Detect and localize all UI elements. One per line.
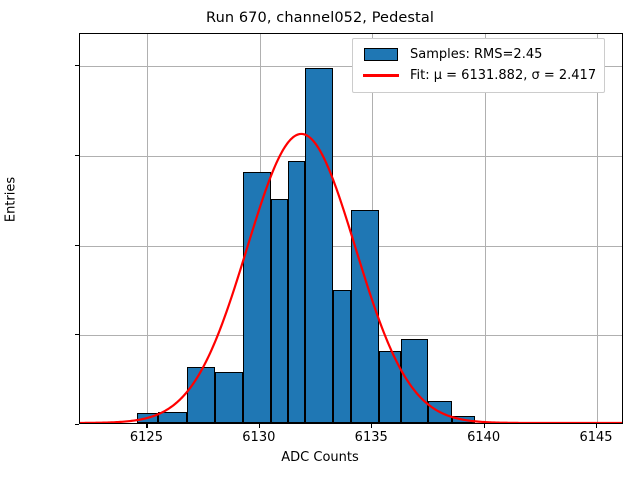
y-tick-mark [75, 65, 79, 66]
x-tick-mark [371, 424, 372, 428]
legend-label-fit: Fit: μ = 6131.882, σ = 2.417 [410, 68, 596, 83]
legend-line-icon [361, 68, 401, 84]
x-tick-mark [259, 424, 260, 428]
x-tick-label: 6135 [355, 430, 388, 445]
legend[interactable]: Samples: RMS=2.45 Fit: μ = 6131.882, σ =… [352, 38, 605, 93]
x-tick-label: 6140 [467, 430, 500, 445]
x-tick-label: 6125 [130, 430, 163, 445]
y-tick-mark [75, 334, 79, 335]
y-axis-label: Entries [4, 120, 19, 280]
x-axis-label: ADC Counts [0, 450, 640, 465]
x-tick-label: 6130 [242, 430, 275, 445]
legend-item-samples[interactable]: Samples: RMS=2.45 [361, 44, 596, 65]
gaussian-fit-curve [80, 134, 622, 423]
x-tick-mark [146, 424, 147, 428]
chart-title: Run 670, channel052, Pedestal [0, 10, 640, 26]
legend-item-fit[interactable]: Fit: μ = 6131.882, σ = 2.417 [361, 65, 596, 86]
legend-patch-icon [361, 47, 401, 63]
y-tick-mark [75, 424, 79, 425]
x-tick-mark [484, 424, 485, 428]
y-tick-mark [75, 245, 79, 246]
x-tick-mark [596, 424, 597, 428]
figure-canvas: Run 670, channel052, Pedestal 6125613061… [0, 0, 640, 480]
legend-label-samples: Samples: RMS=2.45 [410, 47, 542, 62]
x-tick-label: 6145 [579, 430, 612, 445]
y-tick-mark [75, 155, 79, 156]
